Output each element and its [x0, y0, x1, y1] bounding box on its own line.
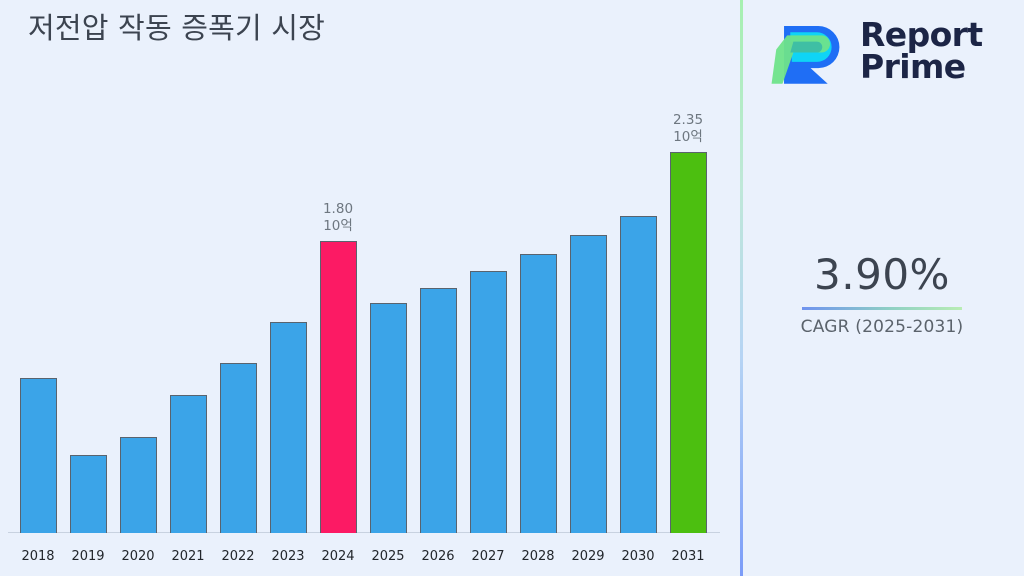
x-tick-2023: 2023: [271, 549, 304, 564]
x-tick-2031: 2031: [671, 549, 704, 564]
tick-slot-2023: 2023: [263, 120, 313, 576]
tick-slot-2019: 2019: [63, 120, 113, 576]
cagr-divider-rule: [802, 307, 962, 310]
slide-root: 저전압 작동 증폭기 시장 1.8010억2.3510억 20182019202…: [0, 0, 1024, 576]
report-prime-logo-icon: [770, 12, 848, 90]
x-tick-2018: 2018: [21, 549, 54, 564]
brand-logo: Report Prime: [770, 12, 983, 90]
tick-slot-2027: 2027: [463, 120, 513, 576]
tick-slot-2025: 2025: [363, 120, 413, 576]
cagr-value: 3.90%: [740, 252, 1024, 298]
x-tick-2020: 2020: [121, 549, 154, 564]
tick-slot-2031: 2031: [663, 120, 713, 576]
brand-name-line2: Prime: [860, 47, 966, 86]
tick-slot-2018: 2018: [13, 120, 63, 576]
tick-slot-2021: 2021: [163, 120, 213, 576]
tick-slot-2022: 2022: [213, 120, 263, 576]
cagr-caption: CAGR (2025-2031): [740, 317, 1024, 337]
x-tick-2021: 2021: [171, 549, 204, 564]
page-title: 저전압 작동 증폭기 시장: [28, 10, 325, 46]
tick-slot-2026: 2026: [413, 120, 463, 576]
x-tick-2029: 2029: [571, 549, 604, 564]
chart-panel: 저전압 작동 증폭기 시장 1.8010억2.3510억 20182019202…: [0, 0, 740, 576]
tick-slot-2024: 2024: [313, 120, 363, 576]
brand-name: Report Prime: [860, 19, 983, 83]
x-tick-2026: 2026: [421, 549, 454, 564]
x-tick-2030: 2030: [621, 549, 654, 564]
bar-chart-plot-area: 1.8010억2.3510억 2018201920202021202220232…: [0, 120, 740, 576]
x-tick-2025: 2025: [371, 549, 404, 564]
brand-panel: Report Prime 3.90% CAGR (2025-2031): [740, 0, 1024, 576]
x-tick-2019: 2019: [71, 549, 104, 564]
x-tick-2028: 2028: [521, 549, 554, 564]
x-tick-2027: 2027: [471, 549, 504, 564]
x-tick-2022: 2022: [221, 549, 254, 564]
cagr-block: 3.90% CAGR (2025-2031): [740, 252, 1024, 337]
tick-slot-2029: 2029: [563, 120, 613, 576]
tick-slot-2020: 2020: [113, 120, 163, 576]
x-tick-2024: 2024: [321, 549, 354, 564]
tick-slot-2030: 2030: [613, 120, 663, 576]
tick-slot-2028: 2028: [513, 120, 563, 576]
